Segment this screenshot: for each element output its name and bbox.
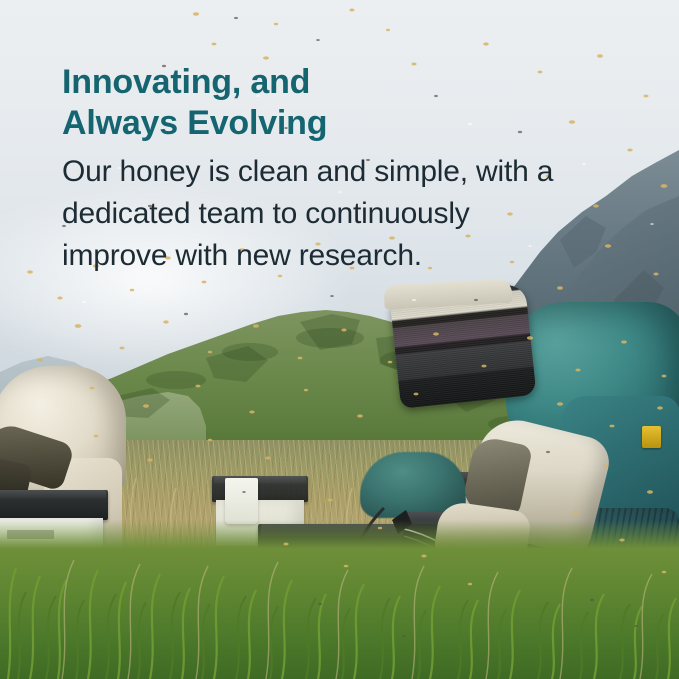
subcopy: Our honey is clean and simple, with a de…: [62, 151, 562, 277]
page-title: Innovating, and Always Evolving: [62, 62, 582, 144]
headline-line-1: Innovating, and: [62, 62, 582, 103]
headline-line-2: Always Evolving: [62, 103, 582, 144]
grass-blades: [0, 470, 679, 679]
hero-banner: Innovating, and Always Evolving Our hone…: [0, 0, 679, 679]
text-block: Innovating, and Always Evolving Our hone…: [62, 62, 582, 277]
subcopy-line-2: dedicated team to continuously: [62, 193, 562, 235]
belt-clip: [642, 426, 661, 448]
subcopy-line-1: Our honey is clean and simple, with a: [62, 151, 562, 193]
subcopy-line-3: improve with new research.: [62, 235, 562, 277]
